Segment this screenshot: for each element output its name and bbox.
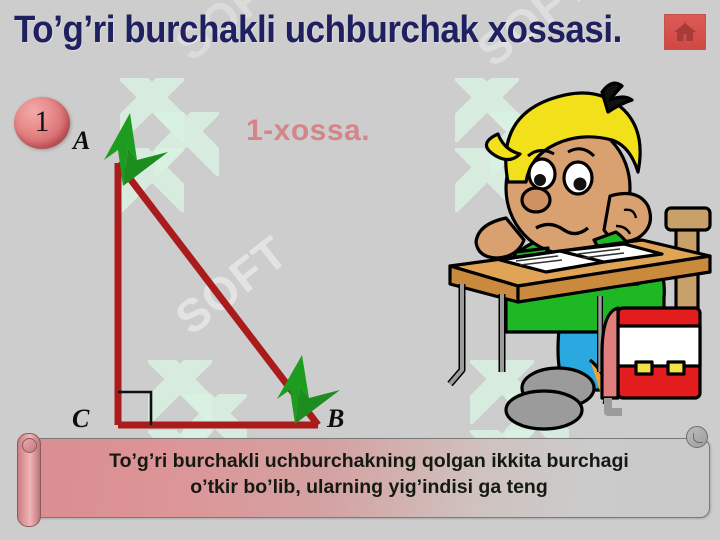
shoe bbox=[506, 391, 582, 429]
chair-back bbox=[666, 208, 710, 230]
statement-line-1: To’g’ri burchakli uchburchakning qolgan … bbox=[109, 450, 629, 472]
vertex-label-c: C bbox=[72, 404, 89, 434]
pupil bbox=[534, 174, 546, 186]
vertex-label-a: A bbox=[73, 126, 90, 156]
step-number-label: 1 bbox=[35, 107, 50, 139]
vertex-label-b: B bbox=[327, 404, 344, 434]
home-icon bbox=[672, 21, 698, 43]
backpack-buckle bbox=[668, 362, 684, 374]
banner-scroll-roll-right-icon bbox=[686, 426, 708, 448]
slide-canvas: SOFT SOFT SOFT SOFT To’g’ri burchakli uc… bbox=[0, 0, 720, 540]
right-angle-marker-icon bbox=[118, 392, 151, 425]
right-triangle-figure bbox=[0, 0, 420, 445]
statement-banner: To’g’ri burchakli uchburchakning qolgan … bbox=[8, 432, 712, 522]
step-number-badge: 1 bbox=[14, 97, 70, 149]
desk-leg-inner bbox=[450, 284, 462, 384]
backpack-strap bbox=[608, 398, 622, 412]
boy-at-desk-illustration bbox=[440, 70, 720, 435]
backpack-flap bbox=[618, 326, 700, 366]
statement-line-2: o’tkir bo’lib, ularning yig’indisi ga te… bbox=[38, 474, 700, 500]
home-button[interactable] bbox=[664, 14, 706, 50]
statement-text: To’g’ri burchakli uchburchakning qolgan … bbox=[38, 448, 700, 500]
hair-tuft bbox=[602, 83, 632, 112]
backpack-side bbox=[602, 308, 618, 398]
page-title: To’g’ri burchakli uchburchak xossasi. bbox=[14, 8, 584, 52]
subtitle: 1-xossa. bbox=[246, 114, 370, 148]
nose bbox=[522, 188, 550, 212]
backpack-buckle bbox=[636, 362, 652, 374]
angle-marker-arrow-a-icon bbox=[104, 113, 168, 186]
pupil bbox=[574, 178, 587, 191]
